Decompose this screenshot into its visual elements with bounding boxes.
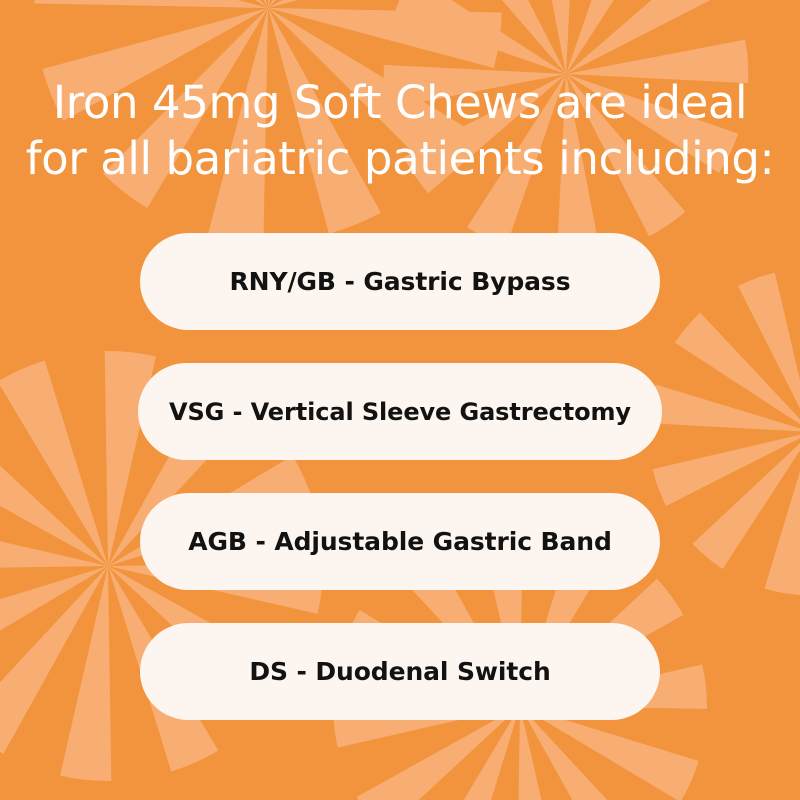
list-item-agb[interactable]: AGB - Adjustable Gastric Band [140,493,660,590]
procedure-list: RNY/GB - Gastric Bypass VSG - Vertical S… [0,233,800,720]
page-title: Iron 45mg Soft Chews are ideal for all b… [0,76,800,187]
list-item-label: AGB - Adjustable Gastric Band [188,527,612,556]
list-item-label: VSG - Vertical Sleeve Gastrectomy [169,398,631,426]
heading-line-2: for all bariatric patients including: [0,132,800,187]
heading-line-1: Iron 45mg Soft Chews are ideal [0,76,800,131]
poster-canvas: Iron 45mg Soft Chews are ideal for all b… [0,0,800,800]
list-item-vsg[interactable]: VSG - Vertical Sleeve Gastrectomy [138,363,662,460]
list-item-rny-gb[interactable]: RNY/GB - Gastric Bypass [140,233,660,330]
list-item-label: RNY/GB - Gastric Bypass [230,267,571,296]
list-item-ds[interactable]: DS - Duodenal Switch [140,623,660,720]
list-item-label: DS - Duodenal Switch [249,657,550,686]
